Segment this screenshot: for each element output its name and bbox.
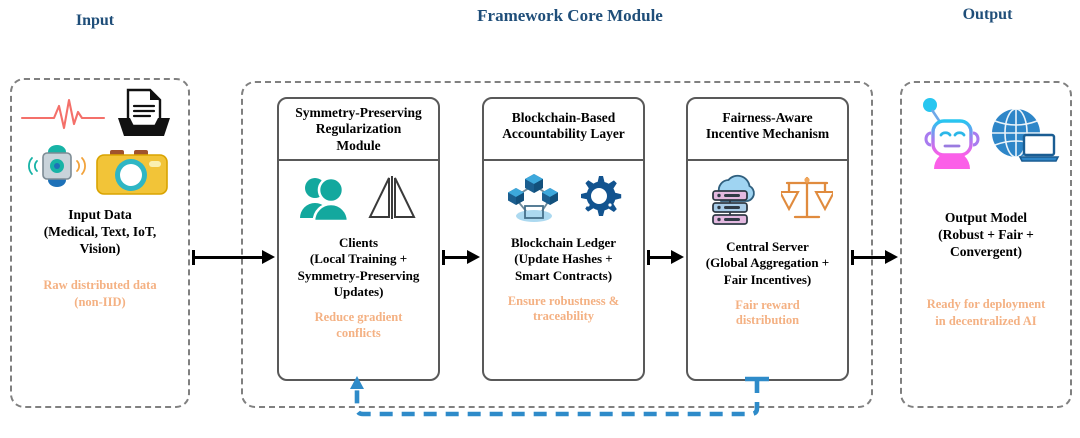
clients-people-icon	[298, 173, 354, 223]
symmetry-mirror-icon	[364, 173, 420, 223]
input-title: Input Data (Medical, Text, IoT, Vision)	[12, 206, 188, 257]
camera-icon	[94, 146, 170, 198]
module2-title: Blockchain-Based Accountability Layer	[484, 99, 643, 161]
module3-main-line-3: Fair Incentives)	[692, 272, 843, 288]
module2-body: Blockchain Ledger (Update Hashes + Smart…	[484, 165, 643, 325]
cloud-server-icon	[703, 170, 759, 226]
module-fairness-aware-incentive-mechanism[interactable]: Fairness-Aware Incentive Mechanism	[686, 97, 849, 381]
module2-main-line-1: Blockchain Ledger	[488, 235, 639, 251]
output-icon-group	[902, 83, 1070, 195]
output-panel: Output Model (Robust + Fair + Convergent…	[900, 81, 1072, 408]
section-title-core: Framework Core Module	[400, 6, 740, 26]
module-blockchain-accountability-layer[interactable]: Blockchain-Based Accountability Layer	[482, 97, 645, 381]
module2-title-line-1: Blockchain-Based	[490, 110, 637, 126]
module3-body: Central Server (Global Aggregation + Fai…	[688, 165, 847, 329]
section-title-output: Output	[895, 6, 1080, 24]
section-title-input: Input	[0, 12, 190, 30]
arrow-head	[885, 250, 898, 264]
output-note-line-2: in decentralized AI	[908, 313, 1064, 329]
module1-main-line-1: Clients	[283, 235, 434, 251]
module3-main-text: Central Server (Global Aggregation + Fai…	[692, 239, 843, 288]
balance-scales-icon	[781, 172, 833, 224]
module1-title: Symmetry-Preserving Regularization Modul…	[279, 99, 438, 161]
module2-note: Ensure robustness & traceability	[488, 294, 639, 325]
module1-title-line-3: Module	[285, 138, 432, 154]
module3-main-line-1: Central Server	[692, 239, 843, 255]
input-note-line-2: (non-IID)	[18, 294, 182, 310]
module1-body: Clients (Local Training + Symmetry-Prese…	[279, 165, 438, 341]
gear-icon	[574, 173, 624, 223]
module1-title-line-2: Regularization	[285, 121, 432, 137]
module3-title-line-2: Incentive Mechanism	[694, 126, 841, 142]
input-panel: Input Data (Medical, Text, IoT, Vision) …	[10, 78, 190, 408]
module3-icon-group	[692, 165, 843, 231]
output-title-line-1: Output Model	[908, 209, 1064, 226]
output-note: Ready for deployment in decentralized AI	[902, 296, 1070, 329]
input-title-line-3: Vision)	[18, 240, 182, 257]
output-note-line-1: Ready for deployment	[908, 296, 1064, 312]
module2-note-line-2: traceability	[488, 309, 639, 325]
module1-main-line-3: Symmetry-Preserving	[283, 268, 434, 284]
arrow-shaft	[852, 256, 886, 259]
arrow-head	[671, 250, 684, 264]
output-title-line-2: (Robust + Fair +	[908, 226, 1064, 243]
module1-icon-group	[283, 165, 434, 231]
module2-icon-group	[488, 165, 639, 231]
arrow-head	[262, 250, 275, 264]
arrow-shaft	[648, 256, 672, 259]
output-title-line-3: Convergent)	[908, 243, 1064, 260]
module1-main-line-4: Updates)	[283, 284, 434, 300]
arrow-shaft	[443, 256, 468, 259]
module2-title-line-2: Accountability Layer	[490, 126, 637, 142]
module3-note-line-2: distribution	[692, 313, 843, 329]
input-title-line-1: Input Data	[18, 206, 182, 223]
diagram-canvas: Input Framework Core Module Output	[0, 0, 1080, 438]
arrow-head	[467, 250, 480, 264]
arrow-shaft	[193, 256, 263, 259]
module3-title: Fairness-Aware Incentive Mechanism	[688, 99, 847, 161]
module2-main-line-3: Smart Contracts)	[488, 268, 639, 284]
module3-note-line-1: Fair reward	[692, 298, 843, 314]
module2-main-line-2: (Update Hashes +	[488, 251, 639, 267]
ecg-heartbeat-icon	[20, 98, 106, 132]
module-symmetry-preserving-regularization[interactable]: Symmetry-Preserving Regularization Modul…	[277, 97, 440, 381]
input-note-line-1: Raw distributed data	[18, 277, 182, 293]
blockchain-network-icon	[504, 171, 564, 225]
module1-main-line-2: (Local Training +	[283, 251, 434, 267]
input-icon-group	[12, 80, 188, 200]
module3-main-line-2: (Global Aggregation +	[692, 255, 843, 271]
input-note: Raw distributed data (non-IID)	[12, 277, 188, 310]
module1-note-line-1: Reduce gradient	[283, 310, 434, 326]
module3-title-line-1: Fairness-Aware	[694, 110, 841, 126]
iot-sensor-icon	[26, 142, 88, 190]
module3-note: Fair reward distribution	[692, 298, 843, 329]
module2-main-text: Blockchain Ledger (Update Hashes + Smart…	[488, 235, 639, 284]
globe-laptop-icon	[986, 107, 1060, 169]
input-title-line-2: (Medical, Text, IoT,	[18, 223, 182, 240]
robot-icon	[914, 95, 986, 173]
document-tray-icon	[114, 86, 174, 144]
module2-note-line-1: Ensure robustness &	[488, 294, 639, 310]
module1-title-line-1: Symmetry-Preserving	[285, 105, 432, 121]
module1-note: Reduce gradient conflicts	[283, 310, 434, 341]
module1-note-line-2: conflicts	[283, 326, 434, 342]
feedback-loop-arrow	[345, 374, 770, 420]
module1-main-text: Clients (Local Training + Symmetry-Prese…	[283, 235, 434, 300]
output-title: Output Model (Robust + Fair + Convergent…	[902, 209, 1070, 260]
